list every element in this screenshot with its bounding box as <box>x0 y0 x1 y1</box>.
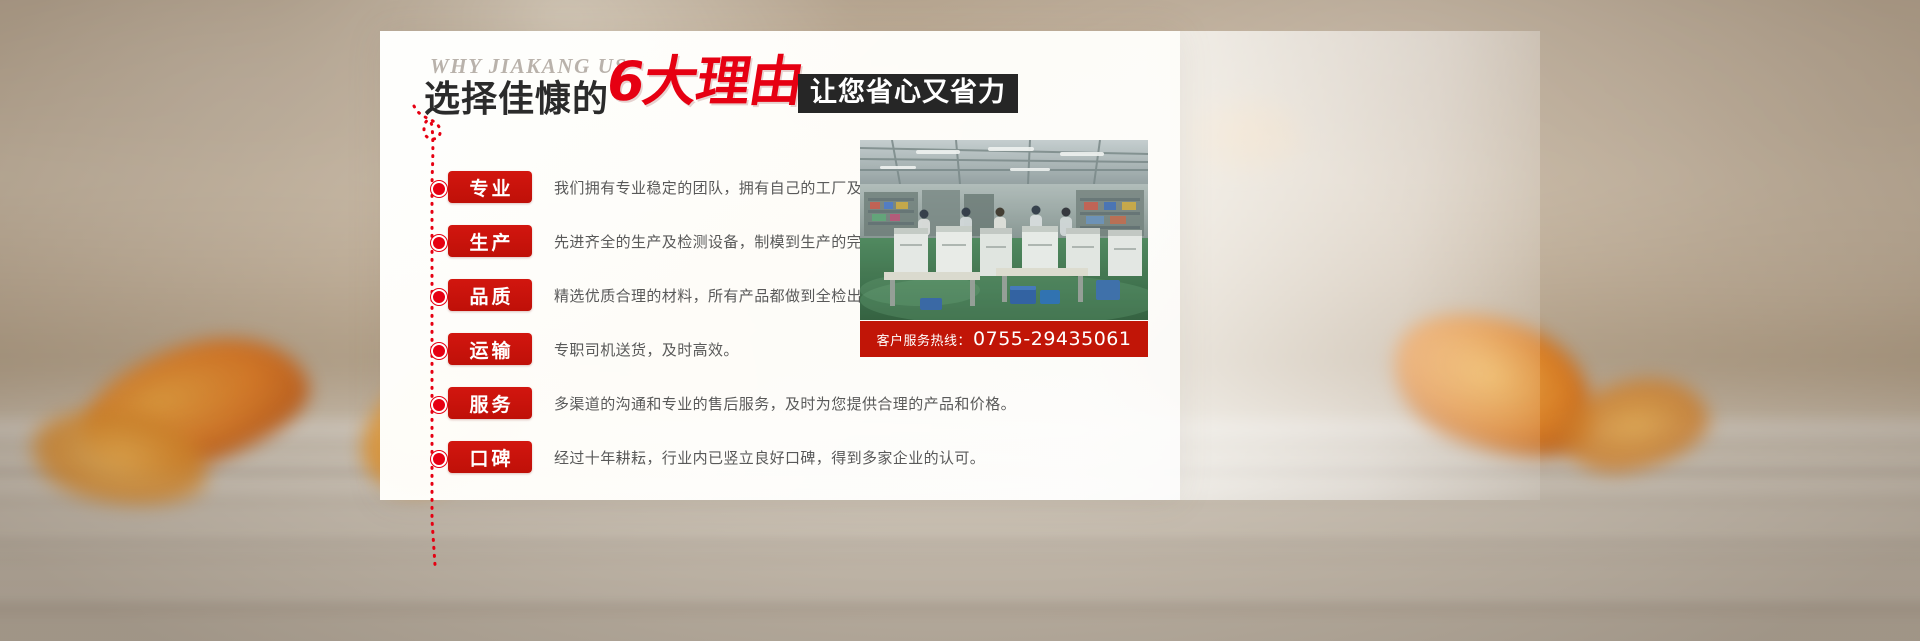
reason-description: 多渠道的沟通和专业的售后服务，及时为您提供合理的产品和价格。 <box>554 393 1016 414</box>
headline-red-highlight: 6大理由 <box>603 55 807 109</box>
reason-tag: 服务 <box>448 387 532 419</box>
hotline-label: 客户服务热线： <box>877 330 972 349</box>
list-item[interactable]: 服务 多渠道的沟通和专业的售后服务，及时为您提供合理的产品和价格。 <box>432 376 1152 430</box>
bullet-node-icon <box>431 397 447 413</box>
reason-tag: 品质 <box>448 279 532 311</box>
bullet-node-icon <box>431 451 447 467</box>
bullet-node-icon <box>431 181 447 197</box>
reason-description: 经过十年耕耘，行业内已竖立良好口碑，得到多家企业的认可。 <box>554 447 985 468</box>
bullet-node-icon <box>431 343 447 359</box>
bullet-node-icon <box>431 289 447 305</box>
hotline-number: 0755-29435061 <box>973 328 1131 350</box>
bullet-node-icon <box>431 235 447 251</box>
reason-tag: 运输 <box>448 333 532 365</box>
hotline-bar[interactable]: 客户服务热线： 0755-29435061 <box>860 321 1148 357</box>
reason-description: 精选优质合理的材料，所有产品都做到全检出货。 <box>554 285 893 306</box>
headline-black-banner: 让您省心又省力 <box>798 74 1018 113</box>
reason-tag: 专业 <box>448 171 532 203</box>
reason-description: 专职司机送货，及时高效。 <box>554 339 739 360</box>
reason-tag: 口碑 <box>448 441 532 473</box>
list-item[interactable]: 口碑 经过十年耕耘，行业内已竖立良好口碑，得到多家企业的认可。 <box>432 430 1152 484</box>
reason-tag: 生产 <box>448 225 532 257</box>
factory-photo <box>860 140 1148 320</box>
headline-chinese-prefix: 选择佳慷的 <box>424 70 609 122</box>
reason-description: 我们拥有专业稳定的团队，拥有自己的工厂及技术。 <box>554 177 908 198</box>
